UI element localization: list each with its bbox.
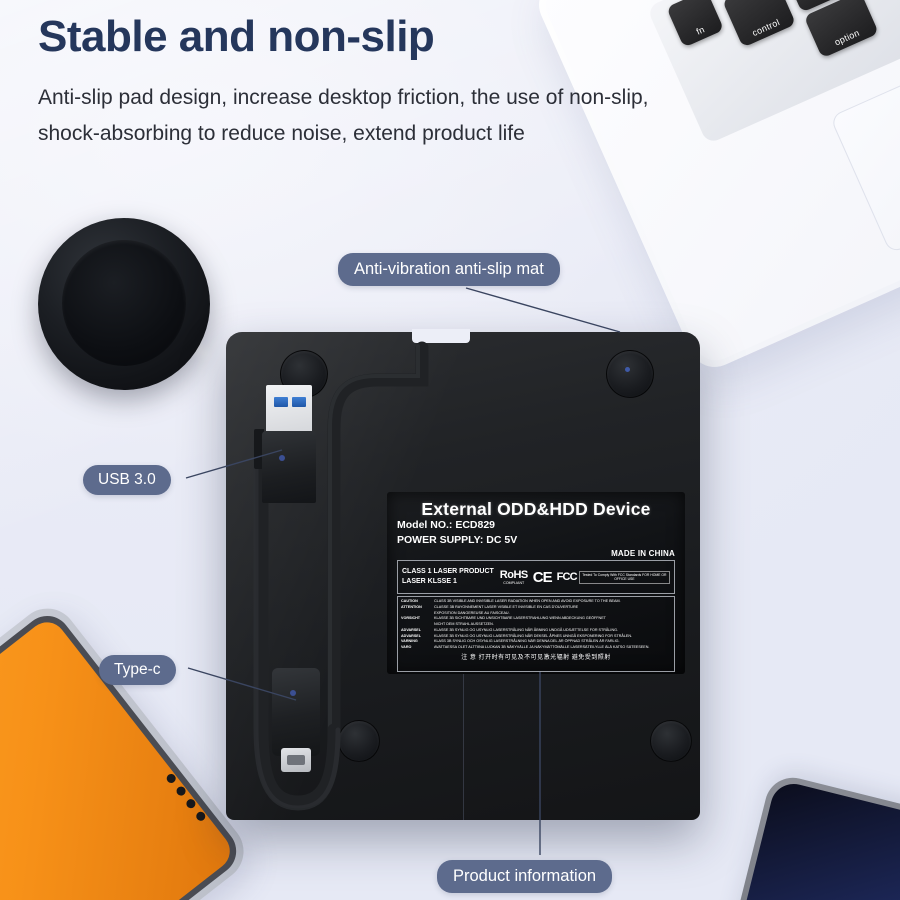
usb-blue-insert-left	[274, 397, 288, 407]
drive-seam	[463, 672, 464, 820]
fcc-label: FCC	[557, 571, 577, 583]
rohs-icon: RoHS COMPLIANT	[500, 569, 528, 585]
drive-top-notch	[412, 329, 470, 343]
callout-usb[interactable]: USB 3.0	[83, 465, 171, 495]
rohs-sublabel: COMPLIANT	[500, 581, 528, 585]
label-made-in: MADE IN CHINA	[397, 549, 675, 558]
callout-product-information[interactable]: Product information	[437, 860, 612, 893]
laser-class-line-1: CLASS 1 LASER PRODUCT	[402, 567, 494, 578]
warning-language: VARO	[401, 645, 431, 651]
anti-slip-pad-bottom-left	[338, 720, 380, 762]
rohs-label: RoHS	[500, 569, 528, 581]
product-feature-image: fn control alt option	[0, 0, 900, 900]
usb-3-connector	[262, 385, 316, 503]
anti-slip-pad-bottom-right	[650, 720, 692, 762]
usb-housing	[262, 431, 316, 503]
callout-anti-vibration-mat[interactable]: Anti-vibration anti-slip mat	[338, 253, 560, 286]
fcc-icon: FCC Tested To Comply With FCC Standards …	[557, 571, 670, 584]
usb-metal-shroud	[266, 385, 312, 433]
pad-highlight-dot	[625, 367, 630, 372]
usb-blue-insert-right	[292, 397, 306, 407]
fcc-sublabel: Tested To Comply With FCC Standards FOR …	[579, 571, 670, 584]
label-model: Model NO.: ECD829	[397, 519, 675, 533]
laser-class-line-2: LASER KLSSE 1	[402, 577, 494, 588]
type-c-housing	[272, 668, 320, 756]
anti-slip-pad-top-right	[606, 350, 654, 398]
page-title: Stable and non-slip	[38, 12, 434, 62]
warning-chinese: 注 意 打开时有可见及不可见激光辐射 避免受到照射	[401, 652, 671, 661]
certification-marks: RoHS COMPLIANT CE FCC Tested To Comply W…	[500, 569, 670, 586]
page-description: Anti-slip pad design, increase desktop f…	[38, 80, 698, 152]
label-power: POWER SUPPLY: DC 5V	[397, 534, 675, 548]
label-title: External ODD&HDD Device	[397, 500, 675, 518]
laser-class-text: CLASS 1 LASER PRODUCT LASER KLSSE 1	[402, 567, 494, 588]
type-c-metal-tip	[281, 748, 311, 772]
label-certification-box: CLASS 1 LASER PRODUCT LASER KLSSE 1 RoHS…	[397, 560, 675, 594]
callout-type-c[interactable]: Type-c	[99, 655, 176, 685]
warning-row: VAROAVATTAESSA OLET ALTTIINA LUOKAN 3B N…	[401, 645, 671, 651]
ce-icon: CE	[533, 569, 552, 586]
warning-list: CAUTIONCLASS 3B VISIBLE AND INVISIBLE LA…	[401, 599, 671, 651]
product-label: External ODD&HDD Device Model NO.: ECD82…	[387, 492, 685, 674]
type-c-connector	[272, 668, 320, 756]
label-warning-box: CAUTIONCLASS 3B VISIBLE AND INVISIBLE LA…	[397, 596, 675, 672]
warning-text: AVATTAESSA OLET ALTTIINA LUOKAN 3B NÄKYV…	[434, 645, 671, 651]
anti-slip-pad-magnified	[38, 218, 210, 390]
